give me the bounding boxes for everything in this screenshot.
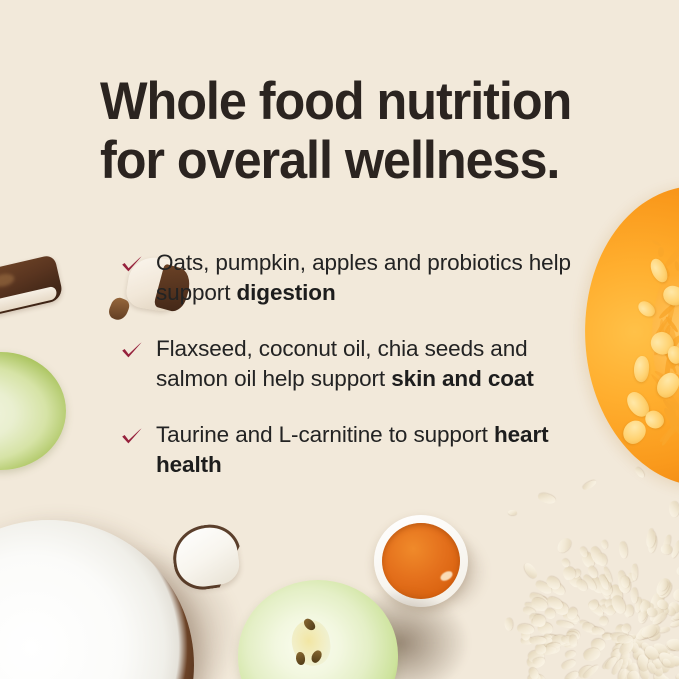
product-benefits-banner: Whole food nutrition for overall wellnes… (0, 0, 679, 679)
list-item: Flaxseed, coconut oil, chia seeds and sa… (120, 334, 590, 394)
list-item-emphasis: digestion (237, 280, 336, 305)
check-icon (120, 425, 144, 445)
list-item-label: Taurine and L-carnitine to support (156, 422, 494, 447)
list-item: Oats, pumpkin, apples and probiotics hel… (120, 248, 590, 308)
page-title: Whole food nutrition for overall wellnes… (100, 72, 575, 190)
benefits-list: Oats, pumpkin, apples and probiotics hel… (120, 248, 590, 480)
content-layer: Whole food nutrition for overall wellnes… (0, 0, 679, 679)
check-icon (120, 339, 144, 359)
list-item-emphasis: skin and coat (391, 366, 534, 391)
check-icon (120, 253, 144, 273)
list-item: Taurine and L-carnitine to support heart… (120, 420, 590, 480)
list-item-label: Oats, pumpkin, apples and probiotics hel… (156, 250, 571, 305)
